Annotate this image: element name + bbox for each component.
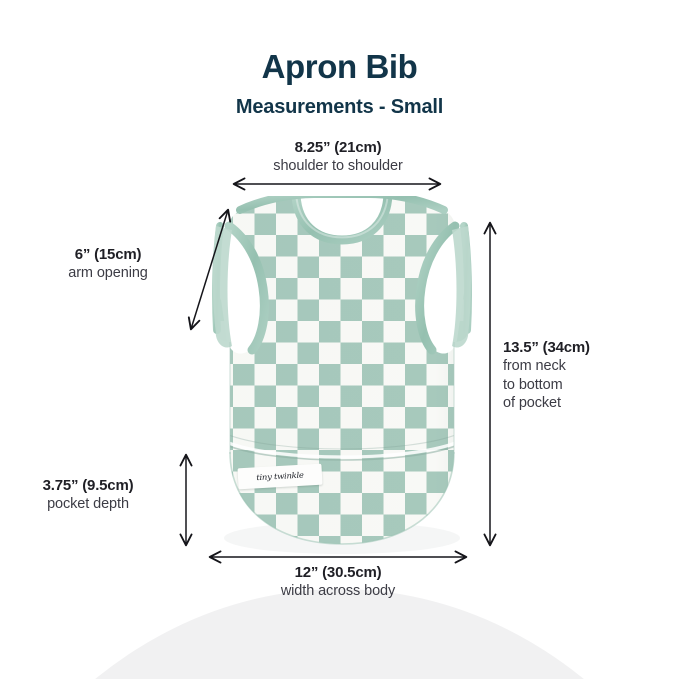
measurement-label-pocket-depth: 3.75” (9.5cm) pocket depth xyxy=(2,476,174,514)
page-subtitle: Measurements - Small xyxy=(0,96,679,119)
measurement-label-width-across-body: 12” (30.5cm) width across body xyxy=(178,563,498,601)
measurement-label-neck-to-pocket: 13.5” (34cm) from neck to bottom of pock… xyxy=(503,338,673,413)
measurement-description-line-1: from neck xyxy=(503,357,673,376)
measurement-value: 6” (15cm) xyxy=(18,245,198,264)
measurement-description: pocket depth xyxy=(2,495,174,514)
measurement-description-line-3: of pocket xyxy=(503,394,673,413)
measurement-value: 3.75” (9.5cm) xyxy=(2,476,174,495)
measurement-description: width across body xyxy=(178,582,498,601)
measurement-label-shoulder-to-shoulder: 8.25” (21cm) shoulder to shoulder xyxy=(178,138,498,176)
bib-fabric-body xyxy=(196,196,488,558)
measurement-value: 13.5” (34cm) xyxy=(503,338,673,357)
measurement-description-line-2: to bottom xyxy=(503,376,673,395)
measurement-diagram: Apron Bib Measurements - Small xyxy=(0,0,679,679)
page-title: Apron Bib xyxy=(0,48,679,86)
measurement-value: 8.25” (21cm) xyxy=(178,138,498,157)
footer-arc-decoration xyxy=(0,589,679,679)
measurement-description: arm opening xyxy=(18,264,198,283)
measurement-label-arm-opening: 6” (15cm) arm opening xyxy=(18,245,198,283)
measurement-description: shoulder to shoulder xyxy=(178,157,498,176)
measurement-value: 12” (30.5cm) xyxy=(178,563,498,582)
brand-tag-text: tiny twinkle xyxy=(256,471,304,483)
apron-bib-illustration: tiny twinkle xyxy=(196,196,488,558)
